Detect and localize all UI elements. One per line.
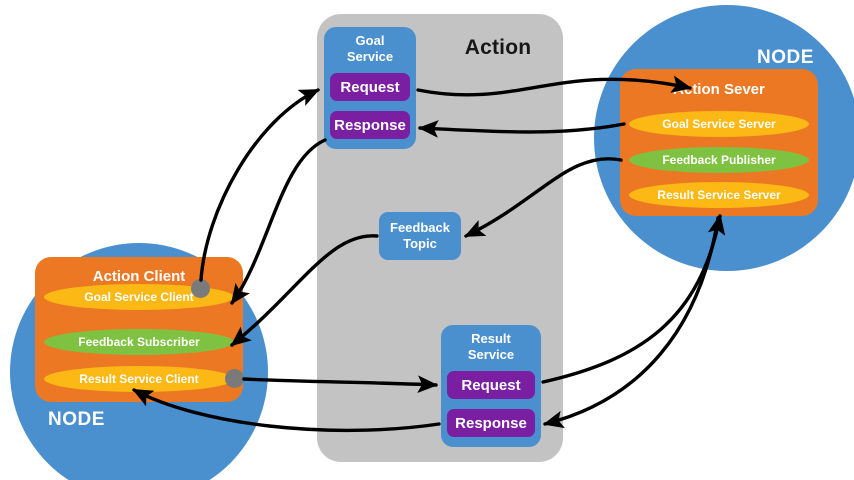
goal-service-title: Goal Service (324, 33, 416, 65)
goal-service-box: Goal Service Request Response (324, 27, 416, 149)
feedback-topic-box[interactable]: Feedback Topic (379, 212, 461, 260)
node-left-label: NODE (48, 409, 105, 431)
result-service-response[interactable]: Response (447, 409, 535, 437)
result-service-title-line1: Result (471, 331, 511, 346)
goal-service-response[interactable]: Response (330, 111, 410, 139)
arrow-goalresponse-to-goalclientpill (232, 140, 325, 303)
action-server-title: Action Sever (620, 81, 818, 98)
pill-feedback-subscriber[interactable]: Feedback Subscriber (44, 329, 234, 355)
feedback-topic-line1: Feedback (390, 220, 450, 235)
pill-feedback-publisher[interactable]: Feedback Publisher (629, 147, 809, 173)
result-service-title-line2: Service (468, 347, 514, 362)
arrow-goalclient-to-goalrequest (201, 90, 318, 280)
pill-goal-service-server[interactable]: Goal Service Server (629, 111, 809, 137)
pill-result-service-client[interactable]: Result Service Client (44, 366, 234, 392)
goal-service-title-line2: Service (347, 49, 393, 64)
goal-service-title-line1: Goal (356, 33, 385, 48)
feedback-topic-line2: Topic (403, 236, 437, 251)
action-container-title: Action (443, 36, 553, 60)
feedback-topic-label: Feedback Topic (390, 220, 450, 252)
goal-service-request[interactable]: Request (330, 73, 410, 101)
connector-dot-result-client (225, 369, 244, 388)
result-service-request[interactable]: Request (447, 371, 535, 399)
pill-result-service-server[interactable]: Result Service Server (629, 182, 809, 208)
diagram-canvas: Action NODE Action Sever Goal Service Se… (0, 0, 854, 480)
action-server-box: Action Sever Goal Service Server Feedbac… (620, 69, 818, 216)
result-service-title: Result Service (441, 331, 541, 363)
connector-dot-goal-client (191, 279, 210, 298)
result-service-box: Result Service Request Response (441, 325, 541, 447)
node-right-label: NODE (757, 47, 814, 69)
action-client-box: Action Client Goal Service Client Feedba… (35, 257, 243, 402)
action-client-title: Action Client (35, 268, 243, 285)
